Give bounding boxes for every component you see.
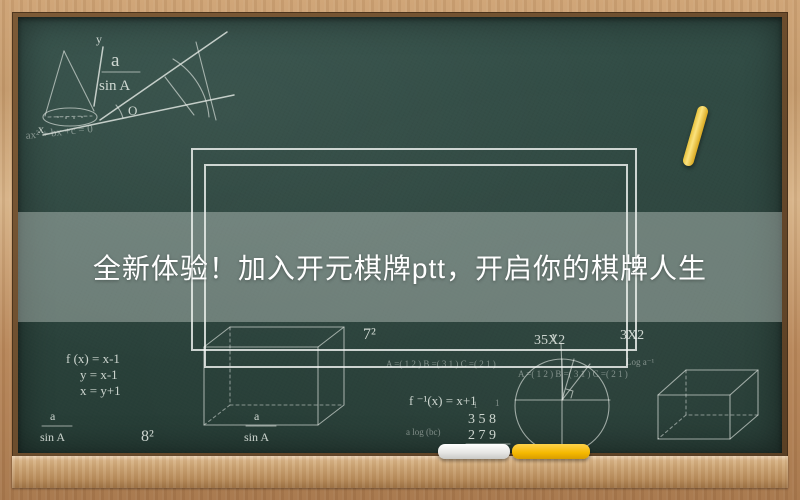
inverse-function: f ⁻¹(x) = x+1 [409, 393, 477, 408]
fraction-a-over-sinA-left: a sin A [40, 409, 72, 444]
svg-text:1: 1 [495, 398, 500, 408]
svg-text:sin A: sin A [40, 430, 65, 444]
chalk-tray [12, 456, 788, 488]
coordinate-axes-angle: y x O [38, 32, 234, 136]
svg-text:sin A: sin A [99, 78, 130, 94]
chalkboard-surface: a sin A ax² + bx +c = 0 y x O [18, 17, 782, 453]
svg-text:x = y+1: x = y+1 [80, 383, 121, 398]
function-equations-block: f (x) = x-1 y = x-1 x = y+1 [66, 351, 121, 398]
svg-text:3 5 8: 3 5 8 [468, 412, 496, 427]
cube-wireframe-right [658, 370, 758, 439]
headline-text: 全新体验！加入开元棋牌ptt，开启你的棋牌人生 [18, 212, 782, 322]
svg-text:a: a [50, 409, 56, 423]
matrix-note-right: A =( 1 2 ) B =( 3 1 ) C =( 2 1 ) [518, 369, 628, 379]
power-8-squared: 8² [141, 428, 154, 445]
svg-text:y = x-1: y = x-1 [80, 367, 118, 382]
svg-text:x: x [38, 122, 44, 136]
chalk-stick-yellow-tray [512, 444, 590, 459]
svg-text:O: O [128, 103, 137, 118]
svg-text:y: y [96, 32, 102, 46]
svg-text:1: 1 [473, 400, 478, 410]
svg-text:a: a [111, 50, 120, 71]
svg-text:sin A: sin A [244, 430, 269, 444]
log-label-2: a log (bc) [406, 427, 440, 437]
fraction-a-over-sinA-topleft: a sin A [99, 50, 140, 94]
svg-text:2 7 9: 2 7 9 [468, 428, 496, 443]
chalkboard-banner-scene: a sin A ax² + bx +c = 0 y x O [0, 0, 800, 500]
cone-sketch [43, 51, 97, 126]
svg-text:a: a [254, 409, 260, 423]
chalk-stick-white-tray [438, 444, 510, 459]
svg-text:f (x) = x-1: f (x) = x-1 [66, 351, 120, 366]
fraction-a-over-sinA-center: a sin A [244, 409, 276, 444]
log-label-1: Log a⁻¹ [626, 357, 654, 367]
